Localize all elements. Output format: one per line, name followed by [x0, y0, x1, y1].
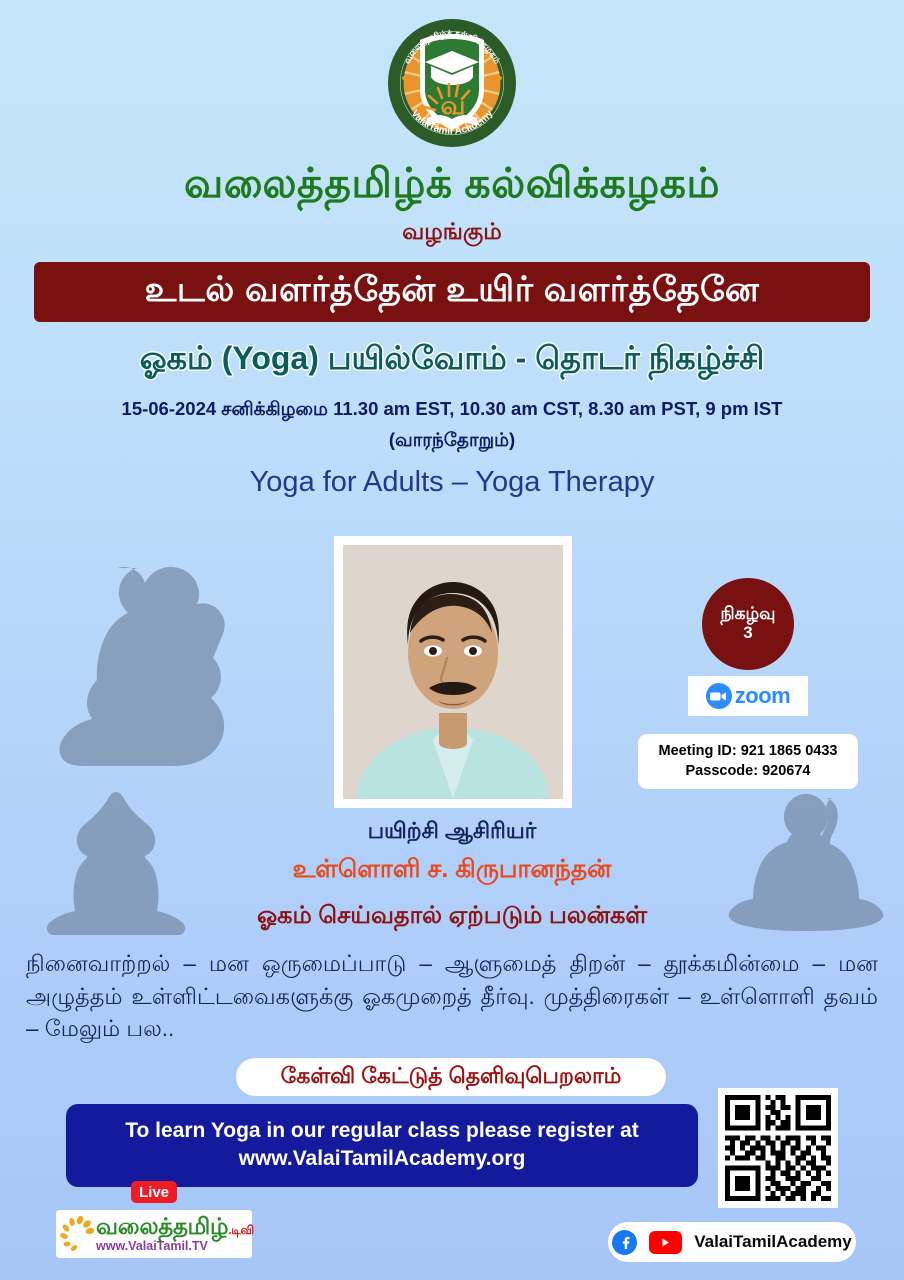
qa-invitation-text: கேள்வி கேட்டுத் தெளிவுபெறலாம்: [281, 1063, 622, 1092]
live-badge: Live: [131, 1181, 177, 1203]
event-badge-number: 3: [743, 624, 752, 643]
schedule-datetime: 15-06-2024 சனிக்கிழமை 11.30 am EST, 10.3…: [0, 398, 904, 422]
cta-website-link[interactable]: www.ValaiTamilAcademy.org: [76, 1145, 688, 1173]
social-handles-pill[interactable]: ValaiTamilAcademy: [608, 1222, 856, 1262]
zoom-wordmark: zoom: [735, 683, 790, 709]
yoga-pigeon-pose-silhouette: [42, 560, 272, 780]
poster-canvas: வ வலைத்தமிழ்க் கல்விக்கழகம் ValaiTamil A…: [0, 0, 904, 1280]
main-title-text: உடல் வளர்த்தேன் உயிர் வளர்த்தேனே: [145, 270, 760, 314]
registration-qr-code[interactable]: [718, 1088, 838, 1208]
benefits-heading: ஓகம் செய்வதால் ஏற்படும் பலன்கள்: [0, 902, 904, 932]
youtube-icon[interactable]: [649, 1231, 682, 1254]
valaitamil-tv-logo[interactable]: வலைத்தமிழ்.டிவி www.ValaiTamil.TV: [56, 1210, 252, 1258]
offering-label: வழங்கும்: [0, 218, 904, 248]
trainer-portrait-illustration: [343, 545, 563, 799]
english-program-title: Yoga for Adults – Yoga Therapy: [0, 466, 904, 499]
cta-line-1: To learn Yoga in our regular class pleas…: [76, 1117, 688, 1145]
qa-invitation-pill: கேள்வி கேட்டுத் தெளிவுபெறலாம்: [236, 1058, 666, 1096]
trainer-photo: [334, 536, 572, 808]
social-handle-name: ValaiTamilAcademy: [694, 1232, 852, 1252]
main-title-banner: உடல் வளர்த்தேன் உயிர் வளர்த்தேனே: [34, 262, 870, 322]
zoom-logo: zoom: [688, 676, 808, 716]
benefits-body: நினைவாற்றல் – மன ஒருமைப்பாடு – ஆளுமைத் த…: [26, 948, 878, 1046]
tv-logo-tamil: வலைத்தமிழ்: [96, 1213, 228, 1239]
live-badge-label: Live: [139, 1184, 169, 1201]
zoom-passcode: Passcode: 920674: [644, 761, 852, 781]
trainer-name: உள்ளொளி ச. கிருபானந்தன்: [0, 855, 904, 887]
registration-cta-box[interactable]: To learn Yoga in our regular class pleas…: [66, 1104, 698, 1187]
zoom-meeting-details: Meeting ID: 921 1865 0433 Passcode: 9206…: [638, 734, 858, 789]
valaitamil-academy-logo-icon: வ வலைத்தமிழ்க் கல்விக்கழகம் ValaiTamil A…: [387, 18, 517, 148]
academy-logo-wrap: வ வலைத்தமிழ்க் கல்விக்கழகம் ValaiTamil A…: [0, 18, 904, 148]
trainer-label: பயிற்சி ஆசிரியர்: [0, 818, 904, 847]
sunburst-icon: [60, 1216, 94, 1252]
tv-logo-url[interactable]: www.ValaiTamil.TV: [96, 1240, 254, 1253]
event-badge-label: நிகழ்வு: [721, 605, 776, 624]
schedule-frequency: (வாரந்தோறும்): [0, 429, 904, 453]
qr-code-icon: [725, 1095, 831, 1201]
organization-name: வலைத்தமிழ்க் கல்விக்கழகம்: [0, 160, 904, 207]
zoom-meeting-id: Meeting ID: 921 1865 0433: [644, 741, 852, 761]
facebook-icon[interactable]: [612, 1230, 637, 1255]
tv-logo-suffix: .டிவி: [228, 1223, 254, 1237]
program-subtitle: ஓகம் (Yoga) பயில்வோம் - தொடர் நிகழ்ச்சி: [0, 340, 904, 381]
event-number-badge: நிகழ்வு 3: [702, 578, 794, 670]
video-camera-icon: [706, 683, 732, 709]
